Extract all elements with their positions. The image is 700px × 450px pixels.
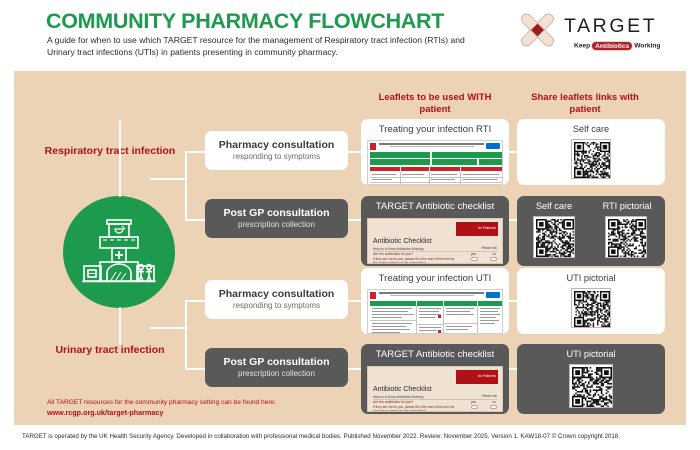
pharmacy-circle xyxy=(63,196,175,308)
rcgp-link[interactable]: www.rcgp.org.uk/target-pharmacy xyxy=(47,408,163,417)
checklist-no-box[interactable] xyxy=(490,257,497,261)
checklist-yes-box[interactable] xyxy=(471,405,478,409)
legal-text: TARGET is operated by the UK Health Secu… xyxy=(22,433,682,440)
logo-tagline: KeepAntibioticsWorking xyxy=(574,41,660,51)
qr-code-self-care[interactable] xyxy=(533,216,575,258)
crossed-capsules-icon xyxy=(518,11,556,49)
logo-tagline-pill: Antibiotics xyxy=(591,41,633,51)
logo-wordmark: TARGET xyxy=(564,15,657,38)
checklist-title: Antibiotic Checklist xyxy=(373,386,432,393)
qr-label-left: Self care xyxy=(519,201,589,211)
page-header: COMMUNITY PHARMACY FLOWCHART A guide for… xyxy=(0,0,700,72)
consultation-subtitle: prescription collection xyxy=(205,220,348,230)
leaflet-title: Treating your infection UTI xyxy=(361,268,509,284)
connector-uti-branch-2 xyxy=(185,368,207,370)
connector-uti-vertical xyxy=(185,300,187,370)
connector-rti-branch-2 xyxy=(185,219,207,221)
consultation-subtitle: responding to symptoms xyxy=(205,301,348,311)
connector-rti-branch-1 xyxy=(185,151,207,153)
page-title: COMMUNITY PHARMACY FLOWCHART xyxy=(46,9,444,34)
connector-rti-horizontal xyxy=(150,178,187,180)
qr-label: UTI pictorial xyxy=(517,273,665,283)
column-heading-leaflets: Leaflets to be used WITH patient xyxy=(370,92,500,116)
consultation-title: Pharmacy consultation xyxy=(205,288,348,301)
consultation-card-3[interactable]: Pharmacy consultation responding to symp… xyxy=(205,280,348,319)
checklist-question: Are the antibiotics for you? xyxy=(373,400,413,404)
qr-card-2[interactable]: Self care RTI pictorial xyxy=(517,196,665,266)
consultation-subtitle: prescription collection xyxy=(205,369,348,379)
consultation-title: Post GP consultation xyxy=(205,356,348,369)
consultation-card-1[interactable]: Pharmacy consultation responding to symp… xyxy=(205,131,348,170)
leaflet-card-2[interactable]: TARGET Antibiotic checklist for Patients… xyxy=(361,196,509,266)
column-heading-links: Share leaflets links with patient xyxy=(515,92,655,116)
leaflet-card-3[interactable]: Treating your infection UTI xyxy=(361,268,509,334)
checklist-no: no xyxy=(492,400,496,404)
connector-uti-horizontal xyxy=(150,327,187,329)
qr-code-uti-pictorial[interactable] xyxy=(571,288,611,328)
logo-tagline-before: Keep xyxy=(574,43,590,50)
label-urinary-tract-infection: Urinary tract infection xyxy=(40,344,180,357)
pharmacy-building-icon xyxy=(80,215,158,289)
qr-card-1[interactable]: Self care xyxy=(517,119,665,185)
leaflet-thumbnail-uti xyxy=(367,289,503,334)
qr-label: Self care xyxy=(517,124,665,134)
qr-code-uti-pictorial[interactable] xyxy=(569,364,613,408)
checklist-thumbnail: for Patients Antibiotic Checklist Help u… xyxy=(367,366,503,412)
qr-card-3[interactable]: UTI pictorial xyxy=(517,268,665,334)
checklist-question: Are the antibiotics for you? xyxy=(373,252,413,256)
footer-note: All TARGET resources for the community p… xyxy=(47,398,276,408)
checklist-question-detail: If they are not for you, please fill in … xyxy=(373,257,455,265)
leaflet-title: TARGET Antibiotic checklist xyxy=(361,196,509,212)
page-subtitle: A guide for when to use which TARGET res… xyxy=(47,34,487,59)
consultation-card-2[interactable]: Post GP consultation prescription collec… xyxy=(205,199,348,238)
leaflet-title: Treating your infection RTI xyxy=(361,119,509,135)
qr-label: UTI pictorial xyxy=(517,349,665,359)
checklist-question-detail: If they are not for you, please fill in … xyxy=(373,405,455,413)
checklist-badge: for Patients xyxy=(478,374,496,378)
qr-label-right: RTI pictorial xyxy=(591,201,663,211)
connector-rti-vertical xyxy=(185,151,187,221)
leaflet-thumbnail-rti xyxy=(367,140,503,185)
checklist-yes: yes xyxy=(471,400,476,404)
connector-uti-stem xyxy=(119,307,121,345)
checklist-title: Antibiotic Checklist xyxy=(373,238,432,245)
checklist-thumbnail: for Patients Antibiotic Checklist Help u… xyxy=(367,218,503,264)
checklist-yes: yes xyxy=(471,252,476,256)
checklist-note: Please tick xyxy=(482,394,497,398)
connector-uti-branch-1 xyxy=(185,300,207,302)
target-logo: TARGET KeepAntibioticsWorking xyxy=(518,9,678,59)
checklist-no: no xyxy=(492,252,496,256)
leaflet-title: TARGET Antibiotic checklist xyxy=(361,344,509,360)
checklist-yes-box[interactable] xyxy=(471,257,478,261)
consultation-card-4[interactable]: Post GP consultation prescription collec… xyxy=(205,348,348,387)
checklist-badge: for Patients xyxy=(478,226,496,230)
label-respiratory-tract-infection: Respiratory tract infection xyxy=(40,145,180,158)
consultation-subtitle: responding to symptoms xyxy=(205,152,348,162)
checklist-no-box[interactable] xyxy=(490,405,497,409)
qr-code-rti-pictorial[interactable] xyxy=(605,216,647,258)
qr-card-4[interactable]: UTI pictorial xyxy=(517,344,665,414)
logo-tagline-after: Working xyxy=(634,43,660,50)
leaflet-card-4[interactable]: TARGET Antibiotic checklist for Patients… xyxy=(361,344,509,414)
consultation-title: Post GP consultation xyxy=(205,207,348,220)
qr-code-self-care[interactable] xyxy=(571,139,611,179)
connector-rti-stem xyxy=(119,120,121,197)
checklist-note: Please tick xyxy=(482,246,497,250)
leaflet-card-1[interactable]: Treating your infection RTI xyxy=(361,119,509,185)
consultation-title: Pharmacy consultation xyxy=(205,139,348,152)
